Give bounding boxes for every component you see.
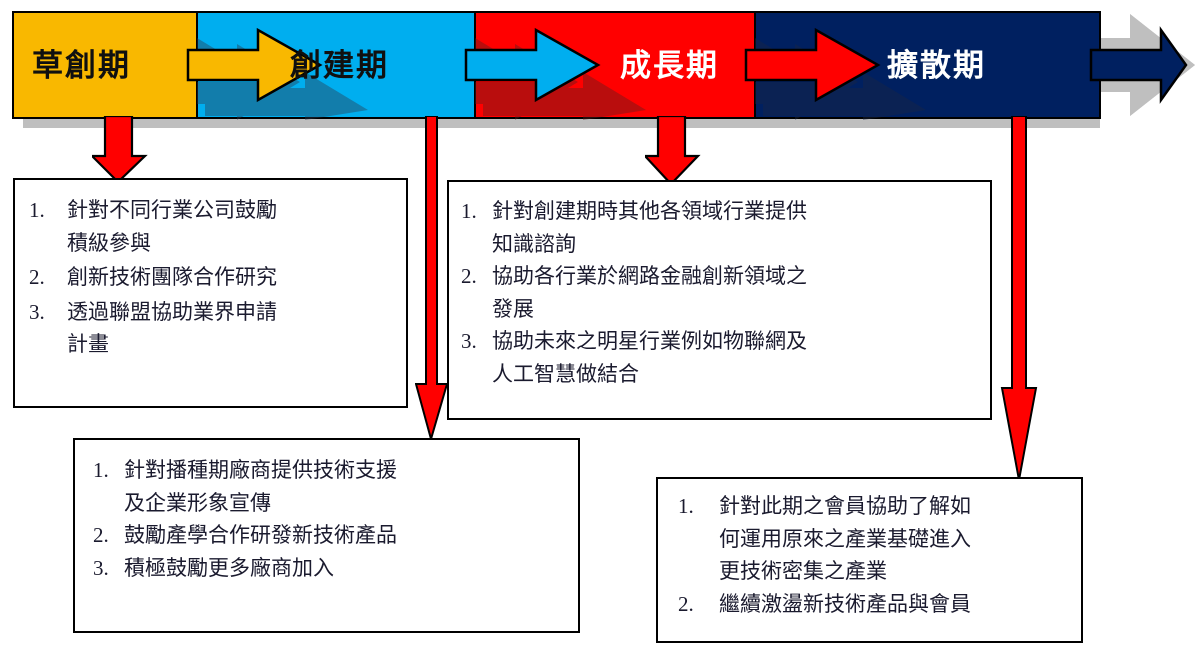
list-item-text: 繼續激盪新技術產品與會員 [719,588,1073,621]
diagram-canvas: 草創期 創建期 成長期 擴散期 1. 針對不同行業公司鼓勵 積級參與 2. [0,0,1197,666]
stage-label-founding: 創建期 [290,50,389,81]
list-item-line: 協助未來之明星行業例如物聯網及 [492,329,807,353]
list-item-line: 何運用原來之產業基礎進入 [719,527,971,551]
stage-label-growth: 成長期 [620,50,719,81]
list-item: 3. 積極鼓勵更多廠商加入 [93,552,570,585]
expansion-stage-actions-list: 1. 針對此期之會員協助了解如 何運用原來之產業基礎進入 更技術密集之產業 2.… [658,479,1081,620]
growth-stage-actions-list: 1. 針對創建期時其他各領域行業提供 知識諮詢 2. 協助各行業於網路金融創新領… [449,182,990,390]
list-item-line: 透過聯盟協助業界申請 [67,300,277,324]
list-item-number: 1. [461,195,492,228]
growth-stage-actions-box: 1. 針對創建期時其他各領域行業提供 知識諮詢 2. 協助各行業於網路金融創新領… [447,180,992,420]
list-item-number: 2. [678,588,719,621]
list-item-line: 協助各行業於網路金融創新領域之 [492,264,807,288]
seed-stage-actions-box: 1. 針對不同行業公司鼓勵 積級參與 2. 創新技術團隊合作研究 3. 透過聯盟… [13,178,408,408]
list-item: 2. 協助各行業於網路金融創新領域之 發展 [461,260,982,325]
list-item-number: 2. [461,260,492,293]
list-item-line: 針對播種期廠商提供技術支援 [124,458,397,482]
list-item-text: 積極鼓勵更多廠商加入 [124,552,570,585]
list-item-line: 及企業形象宣傳 [124,491,271,515]
list-item-line: 知識諮詢 [492,232,576,256]
list-item-text: 創新技術團隊合作研究 [67,261,398,294]
list-item-number: 1. [678,490,719,523]
list-item-text: 針對此期之會員協助了解如 何運用原來之產業基礎進入 更技術密集之產業 [719,490,1073,588]
list-item-number: 2. [29,261,67,294]
list-item-number: 3. [461,325,492,358]
list-item: 1. 針對此期之會員協助了解如 何運用原來之產業基礎進入 更技術密集之產業 [678,490,1073,588]
list-item-line: 發展 [492,297,534,321]
list-item-text: 協助未來之明星行業例如物聯網及 人工智慧做結合 [492,325,982,390]
list-item-text: 針對創建期時其他各領域行業提供 知識諮詢 [492,195,982,260]
list-item-number: 1. [93,454,124,487]
list-item-line: 更技術密集之產業 [719,559,887,583]
expansion-stage-actions-box: 1. 針對此期之會員協助了解如 何運用原來之產業基礎進入 更技術密集之產業 2.… [656,477,1083,643]
founding-stage-actions-list: 1. 針對播種期廠商提供技術支援 及企業形象宣傳 2. 鼓勵產學合作研發新技術產… [75,440,578,584]
list-item-number: 1. [29,194,67,227]
list-item-text: 透過聯盟協助業界申請 計畫 [67,296,398,361]
stage-label-seed: 草創期 [32,50,131,81]
list-item-number: 3. [29,296,67,329]
list-item-number: 3. [93,552,124,585]
list-item-line: 計畫 [67,332,109,356]
connector-growth-to-box2 [645,116,705,186]
connector-founding-to-box3 [415,116,449,441]
list-item-line: 針對此期之會員協助了解如 [719,494,971,518]
list-item-text: 針對播種期廠商提供技術支援 及企業形象宣傳 [124,454,570,519]
list-item: 2. 鼓勵產學合作研發新技術產品 [93,519,570,552]
list-item-line: 針對創建期時其他各領域行業提供 [492,199,807,223]
list-item-text: 針對不同行業公司鼓勵 積級參與 [67,194,398,259]
list-item-text: 協助各行業於網路金融創新領域之 發展 [492,260,982,325]
seed-stage-actions-list: 1. 針對不同行業公司鼓勵 積級參與 2. 創新技術團隊合作研究 3. 透過聯盟… [15,180,406,361]
founding-stage-actions-box: 1. 針對播種期廠商提供技術支援 及企業形象宣傳 2. 鼓勵產學合作研發新技術產… [73,438,580,633]
list-item: 2. 繼續激盪新技術產品與會員 [678,588,1073,621]
list-item-number: 2. [93,519,124,552]
connector-expansion-to-box4 [1000,116,1038,482]
list-item-line: 人工智慧做結合 [492,362,639,386]
list-item: 2. 創新技術團隊合作研究 [29,261,398,294]
list-item: 1. 針對創建期時其他各領域行業提供 知識諮詢 [461,195,982,260]
list-item-line: 針對不同行業公司鼓勵 [67,198,277,222]
list-item-line: 積級參與 [67,231,151,255]
list-item: 3. 透過聯盟協助業界申請 計畫 [29,296,398,361]
connector-seed-to-box1 [92,116,152,184]
list-item: 1. 針對不同行業公司鼓勵 積級參與 [29,194,398,259]
list-item-text: 鼓勵產學合作研發新技術產品 [124,519,570,552]
list-item: 1. 針對播種期廠商提供技術支援 及企業形象宣傳 [93,454,570,519]
list-item: 3. 協助未來之明星行業例如物聯網及 人工智慧做結合 [461,325,982,390]
stage-label-expansion: 擴散期 [887,50,986,81]
